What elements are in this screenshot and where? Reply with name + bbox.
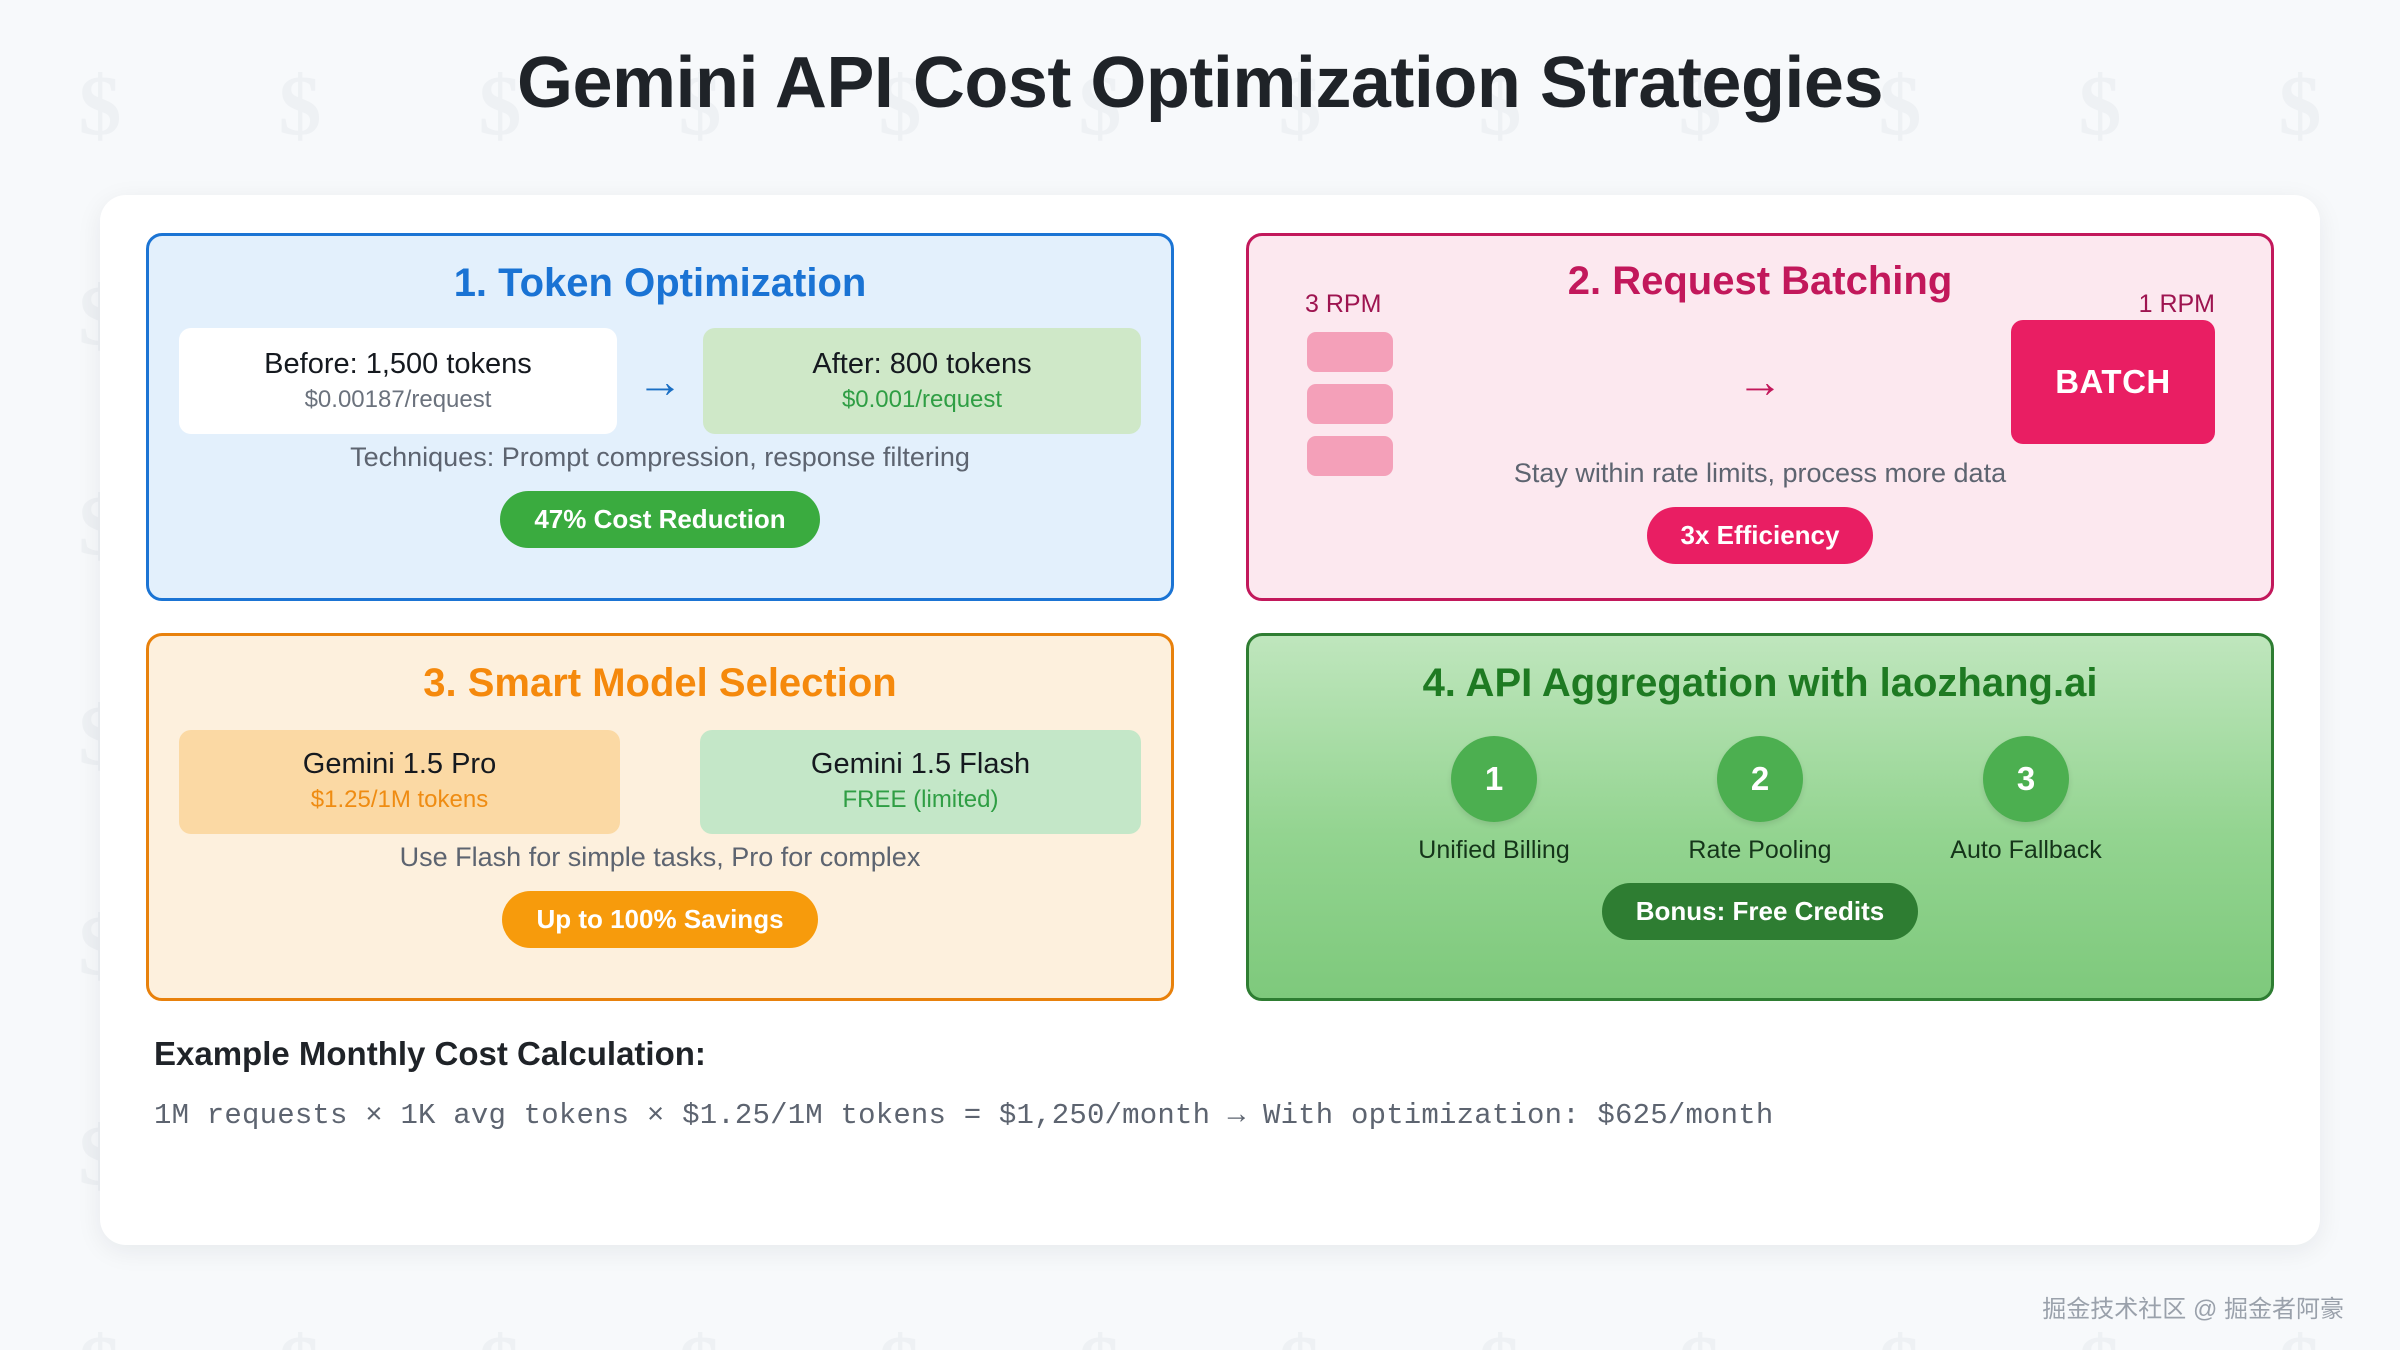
model-option-pro-name: Gemini 1.5 Pro (191, 746, 608, 782)
request-bar (1307, 436, 1393, 476)
footer-watermark: 掘金技术社区 @ 掘金者阿豪 (2042, 1289, 2344, 1324)
aggregation-steps: 1 Unified Billing 2 Rate Pooling 3 Auto … (1279, 736, 2241, 865)
token-before-box: Before: 1,500 tokens $0.00187/request (179, 328, 617, 434)
badge-free-credits: Bonus: Free Credits (1602, 883, 1919, 940)
aggregation-step-number: 1 (1451, 736, 1537, 822)
request-bars-stack (1307, 332, 1393, 476)
card-smart-model-selection-title: 3. Smart Model Selection (179, 658, 1141, 708)
request-bar (1307, 384, 1393, 424)
model-options-row: Gemini 1.5 Pro $1.25/1M tokens Gemini 1.… (179, 730, 1141, 834)
batching-diagram: 3 RPM 1 RPM → BATCH (1279, 260, 2241, 450)
token-before-cost: $0.00187/request (191, 386, 605, 414)
aggregation-step: 2 Rate Pooling (1670, 736, 1850, 865)
example-calculation-formula: 1M requests × 1K avg tokens × $1.25/1M t… (154, 1099, 2274, 1132)
aggregation-step-label: Rate Pooling (1670, 836, 1850, 865)
aggregation-step-number: 2 (1717, 736, 1803, 822)
card-token-optimization: 1. Token Optimization Before: 1,500 toke… (146, 233, 1174, 601)
model-option-flash: Gemini 1.5 Flash FREE (limited) (700, 730, 1141, 834)
aggregation-step-label: Auto Fallback (1936, 836, 2116, 865)
card-api-aggregation-title: 4. API Aggregation with laozhang.ai (1279, 658, 2241, 708)
arrow-right-icon: → (1737, 358, 1783, 404)
rate-label-left: 3 RPM (1305, 290, 1381, 319)
infographic-page: Gemini API Cost Optimization Strategies … (0, 0, 2400, 1350)
model-option-pro: Gemini 1.5 Pro $1.25/1M tokens (179, 730, 620, 834)
example-calculation-title: Example Monthly Cost Calculation: (154, 1035, 2274, 1073)
card-request-batching-note: Stay within rate limits, process more da… (1279, 458, 2241, 489)
aggregation-step-number: 3 (1983, 736, 2069, 822)
card-smart-model-selection-note: Use Flash for simple tasks, Pro for comp… (179, 842, 1141, 873)
aggregation-step: 1 Unified Billing (1404, 736, 1584, 865)
card-token-optimization-title: 1. Token Optimization (179, 258, 1141, 308)
token-after-box: After: 800 tokens $0.001/request (703, 328, 1141, 434)
card-token-optimization-note: Techniques: Prompt compression, response… (179, 442, 1141, 473)
aggregation-step: 3 Auto Fallback (1936, 736, 2116, 865)
badge-savings: Up to 100% Savings (502, 891, 817, 948)
model-option-flash-name: Gemini 1.5 Flash (712, 746, 1129, 782)
token-after-label: After: 800 tokens (715, 346, 1129, 382)
badge-efficiency: 3x Efficiency (1647, 507, 1874, 564)
example-calculation-section: Example Monthly Cost Calculation: 1M req… (146, 1035, 2274, 1132)
token-before-label: Before: 1,500 tokens (191, 346, 605, 382)
arrow-right-icon: → (637, 358, 683, 404)
rate-label-right: 1 RPM (2139, 290, 2215, 319)
page-title: Gemini API Cost Optimization Strategies (0, 0, 2400, 126)
batch-box: BATCH (2011, 320, 2215, 444)
token-after-cost: $0.001/request (715, 386, 1129, 414)
content-panel: 1. Token Optimization Before: 1,500 toke… (100, 195, 2320, 1245)
request-bar (1307, 332, 1393, 372)
token-comparison-row: Before: 1,500 tokens $0.00187/request → … (179, 328, 1141, 434)
card-api-aggregation: 4. API Aggregation with laozhang.ai 1 Un… (1246, 633, 2274, 1001)
model-option-pro-price: $1.25/1M tokens (191, 786, 608, 814)
card-request-batching: 2. Request Batching 3 RPM 1 RPM → BATCH … (1246, 233, 2274, 601)
card-smart-model-selection: 3. Smart Model Selection Gemini 1.5 Pro … (146, 633, 1174, 1001)
model-option-flash-price: FREE (limited) (712, 786, 1129, 814)
badge-cost-reduction: 47% Cost Reduction (500, 491, 819, 548)
aggregation-step-label: Unified Billing (1404, 836, 1584, 865)
strategy-cards-grid: 1. Token Optimization Before: 1,500 toke… (146, 233, 2274, 1001)
